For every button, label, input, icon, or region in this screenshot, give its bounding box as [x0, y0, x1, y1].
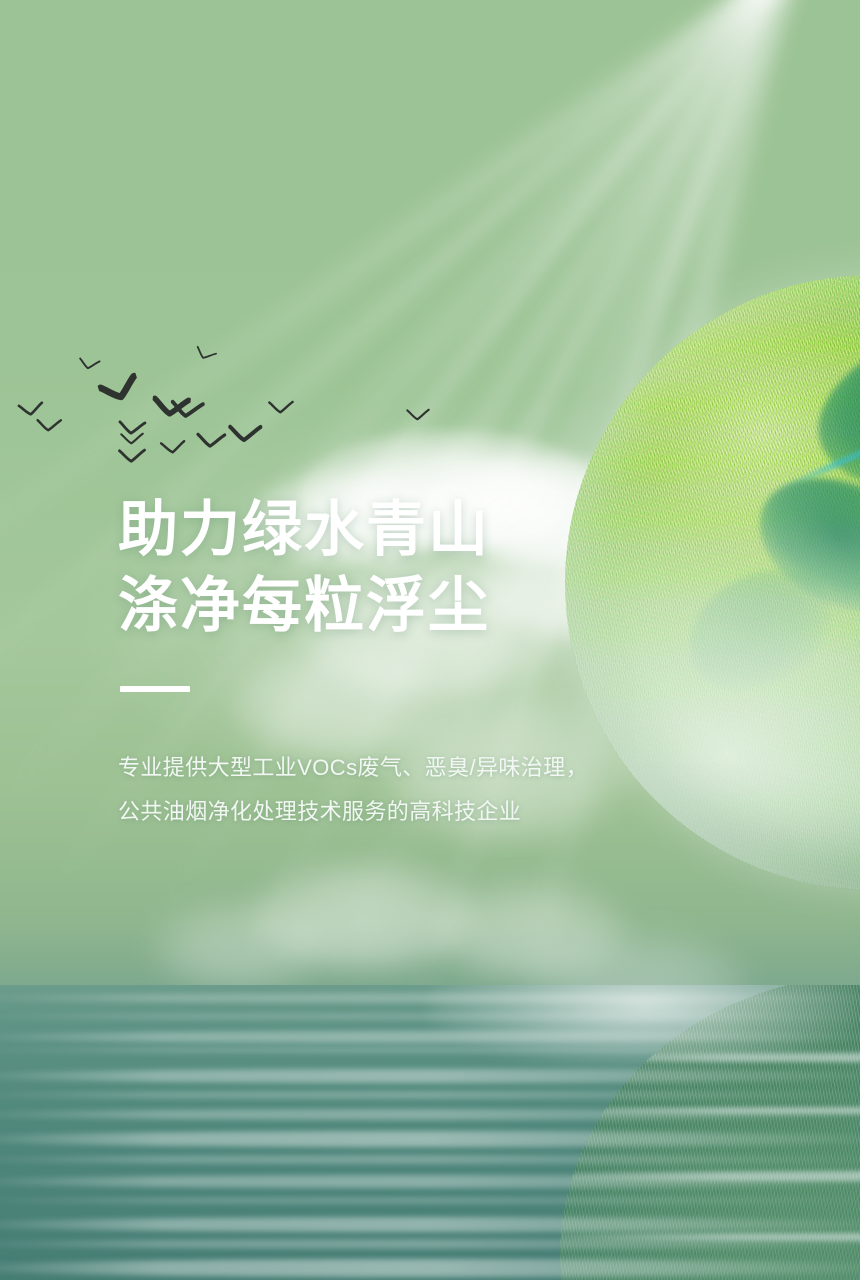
- water-ripple: [0, 1197, 860, 1204]
- water-ripple: [0, 1131, 860, 1147]
- page-title-line-1: 助力绿水青山: [118, 492, 678, 568]
- hero-copy: 助力绿水青山 涤净每粒浮尘 专业提供大型工业VOCs废气、恶臭/异味治理， 公共…: [118, 492, 678, 832]
- water-ripple: [0, 1031, 860, 1043]
- title-divider: [120, 686, 190, 692]
- water-ripple: [0, 993, 860, 1003]
- water-ripple: [0, 1175, 860, 1188]
- poster-canvas: 助力绿水青山 涤净每粒浮尘 专业提供大型工业VOCs废气、恶臭/异味治理， 公共…: [0, 0, 860, 1280]
- subtitle-line-2: 公共油烟净化处理技术服务的高科技企业: [118, 792, 678, 832]
- water-ripple: [0, 1013, 860, 1020]
- page-title-line-2: 涤净每粒浮尘: [118, 568, 678, 644]
- water-ripple: [0, 1047, 860, 1053]
- water-ripple: [0, 1217, 860, 1232]
- water-ripple: [0, 1069, 860, 1083]
- water-surface: [0, 985, 860, 1280]
- subtitle-line-1: 专业提供大型工业VOCs废气、恶臭/异味治理，: [118, 748, 678, 788]
- water-ripple: [0, 1109, 860, 1120]
- water-ripple: [0, 1259, 860, 1277]
- water-ripple: [0, 1239, 860, 1249]
- water-ripple: [0, 1155, 860, 1164]
- water-ripple: [0, 1091, 860, 1099]
